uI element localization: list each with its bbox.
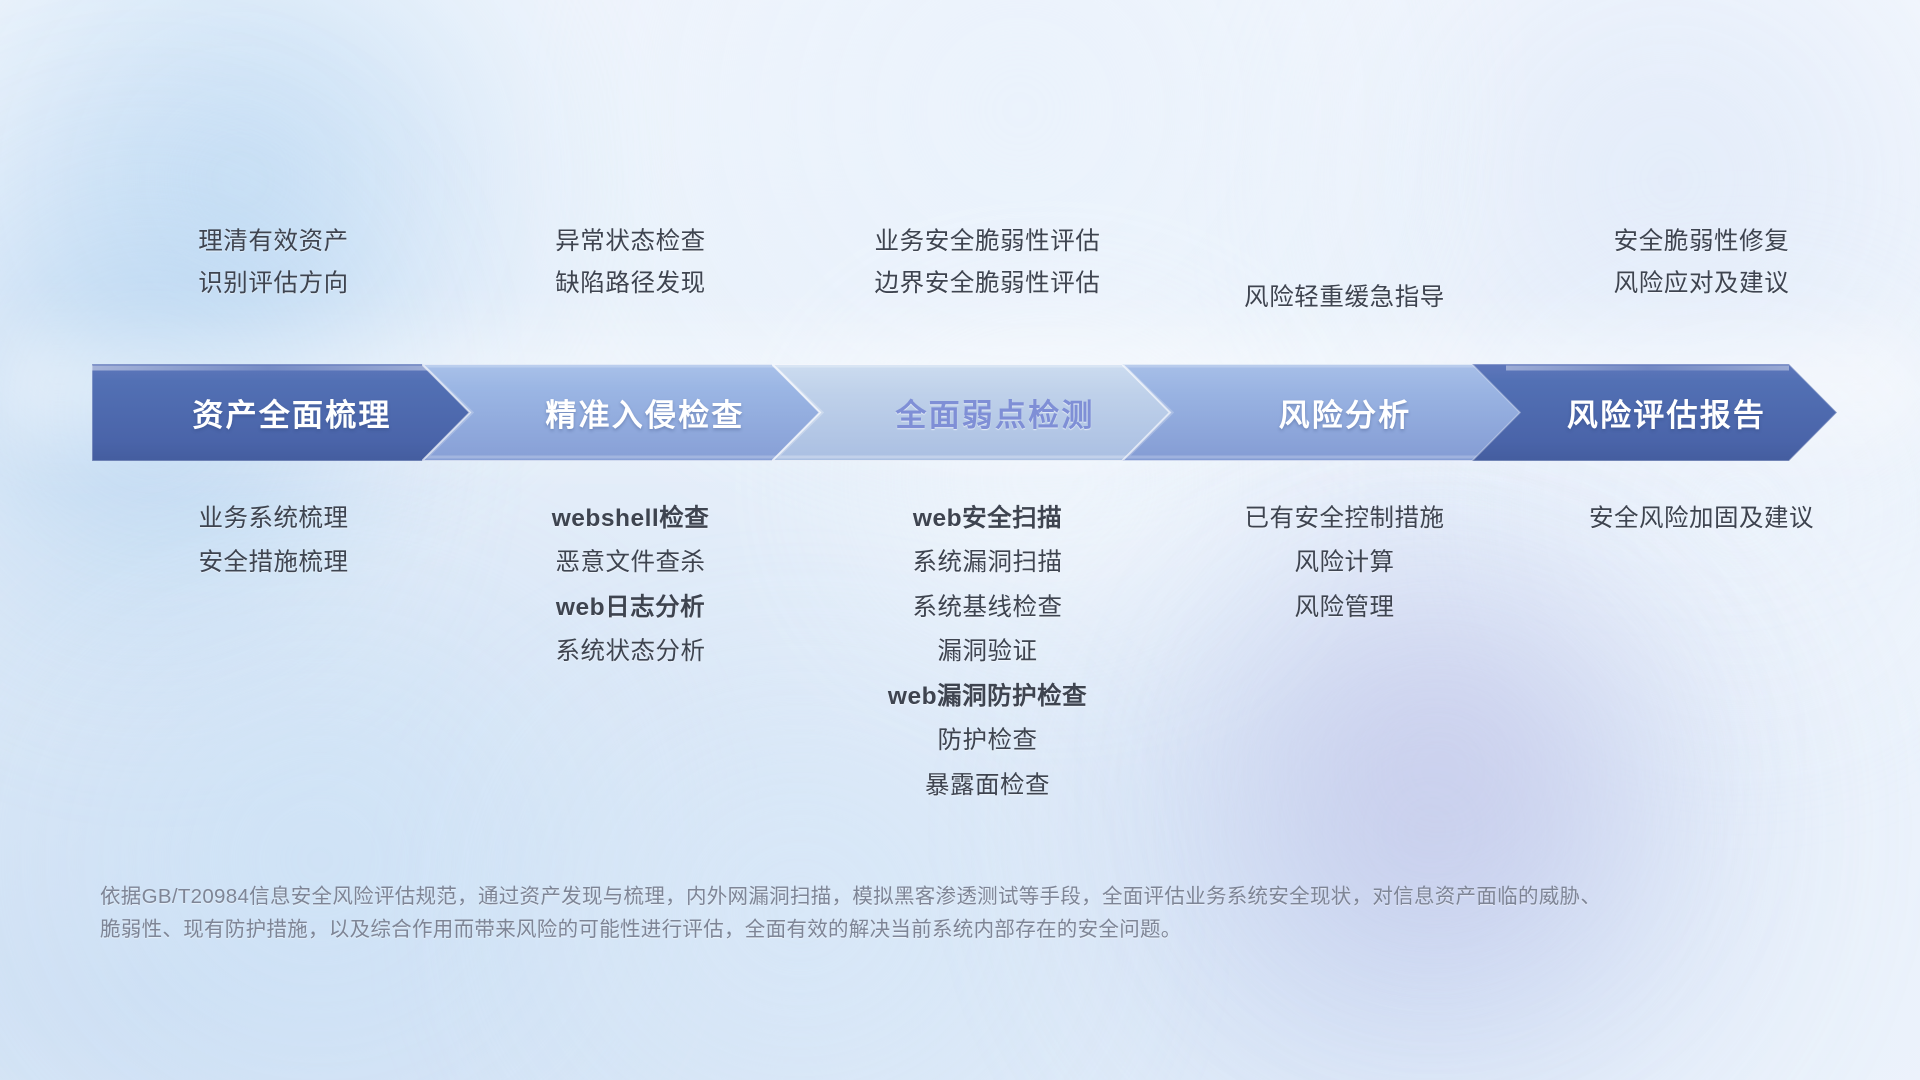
list-item: web日志分析 <box>556 594 705 621</box>
list-item: web安全扫描 <box>913 505 1062 532</box>
list-item: 风险计算 <box>1295 549 1395 576</box>
note: 风险应对及建议 <box>1614 270 1790 298</box>
note: 业务安全脆弱性评估 <box>875 228 1101 256</box>
note: 风险轻重缓急指导 <box>1244 284 1445 312</box>
note: 安全脆弱性修复 <box>1614 228 1790 256</box>
list-item: 已有安全控制措施 <box>1245 505 1445 532</box>
top-notes-asset-inventory: 理清有效资产 识别评估方向 <box>95 228 452 338</box>
chevron-band: 资产全面梳理 精准入侵检查 <box>92 364 1837 461</box>
list-item: 业务系统梳理 <box>199 505 349 532</box>
bottom-notes-row: 业务系统梳理 安全措施梳理 webshell检查 恶意文件查杀 web日志分析 … <box>95 505 1880 799</box>
list-item: 防护检查 <box>938 727 1038 754</box>
list-item: 恶意文件查杀 <box>556 549 706 576</box>
bottom-notes-intrusion-check: webshell检查 恶意文件查杀 web日志分析 系统状态分析 <box>452 505 809 799</box>
list-item: 系统漏洞扫描 <box>913 549 1063 576</box>
note: 异常状态检查 <box>555 228 706 256</box>
list-item: 漏洞验证 <box>938 638 1038 665</box>
list-item: 安全风险加固及建议 <box>1589 505 1814 532</box>
bottom-notes-weakness-detection: web安全扫描 系统漏洞扫描 系统基线检查 漏洞验证 web漏洞防护检查 防护检… <box>809 505 1166 799</box>
top-notes-row: 理清有效资产 识别评估方向 异常状态检查 缺陷路径发现 业务安全脆弱性评估 边界… <box>95 228 1880 338</box>
process-diagram: 理清有效资产 识别评估方向 异常状态检查 缺陷路径发现 业务安全脆弱性评估 边界… <box>0 0 1920 1080</box>
bottom-notes-risk-analysis: 已有安全控制措施 风险计算 风险管理 <box>1166 505 1523 799</box>
list-item: webshell检查 <box>552 505 709 532</box>
chevron-stage-risk-report[interactable]: 风险评估报告 <box>1472 364 1837 461</box>
note: 边界安全脆弱性评估 <box>875 270 1101 298</box>
chevron-label: 风险分析 <box>1279 390 1412 435</box>
note: 识别评估方向 <box>198 270 349 298</box>
list-item: 系统基线检查 <box>913 594 1063 621</box>
top-notes-intrusion-check: 异常状态检查 缺陷路径发现 <box>452 228 809 338</box>
chevron-label: 资产全面梳理 <box>192 390 391 435</box>
list-item: 安全措施梳理 <box>199 549 349 576</box>
list-item: 风险管理 <box>1295 594 1395 621</box>
top-notes-weakness-detection: 业务安全脆弱性评估 边界安全脆弱性评估 <box>809 228 1166 338</box>
note: 理清有效资产 <box>198 228 349 256</box>
footer-description: 依据GB/T20984信息安全风险评估规范，通过资产发现与梳理，内外网漏洞扫描，… <box>100 880 1610 946</box>
top-notes-risk-report: 安全脆弱性修复 风险应对及建议 <box>1523 228 1880 338</box>
list-item: web漏洞防护检查 <box>888 683 1087 710</box>
chevron-label: 精准入侵检查 <box>545 390 744 435</box>
bottom-notes-risk-report: 安全风险加固及建议 <box>1523 505 1880 799</box>
chevron-label: 风险评估报告 <box>1567 390 1766 435</box>
list-item: 系统状态分析 <box>556 638 706 665</box>
top-notes-risk-analysis: 风险轻重缓急指导 <box>1166 228 1523 338</box>
chevron-label: 全面弱点检测 <box>895 390 1094 435</box>
note: 缺陷路径发现 <box>555 270 706 298</box>
bottom-notes-asset-inventory: 业务系统梳理 安全措施梳理 <box>95 505 452 799</box>
list-item: 暴露面检查 <box>925 772 1050 799</box>
